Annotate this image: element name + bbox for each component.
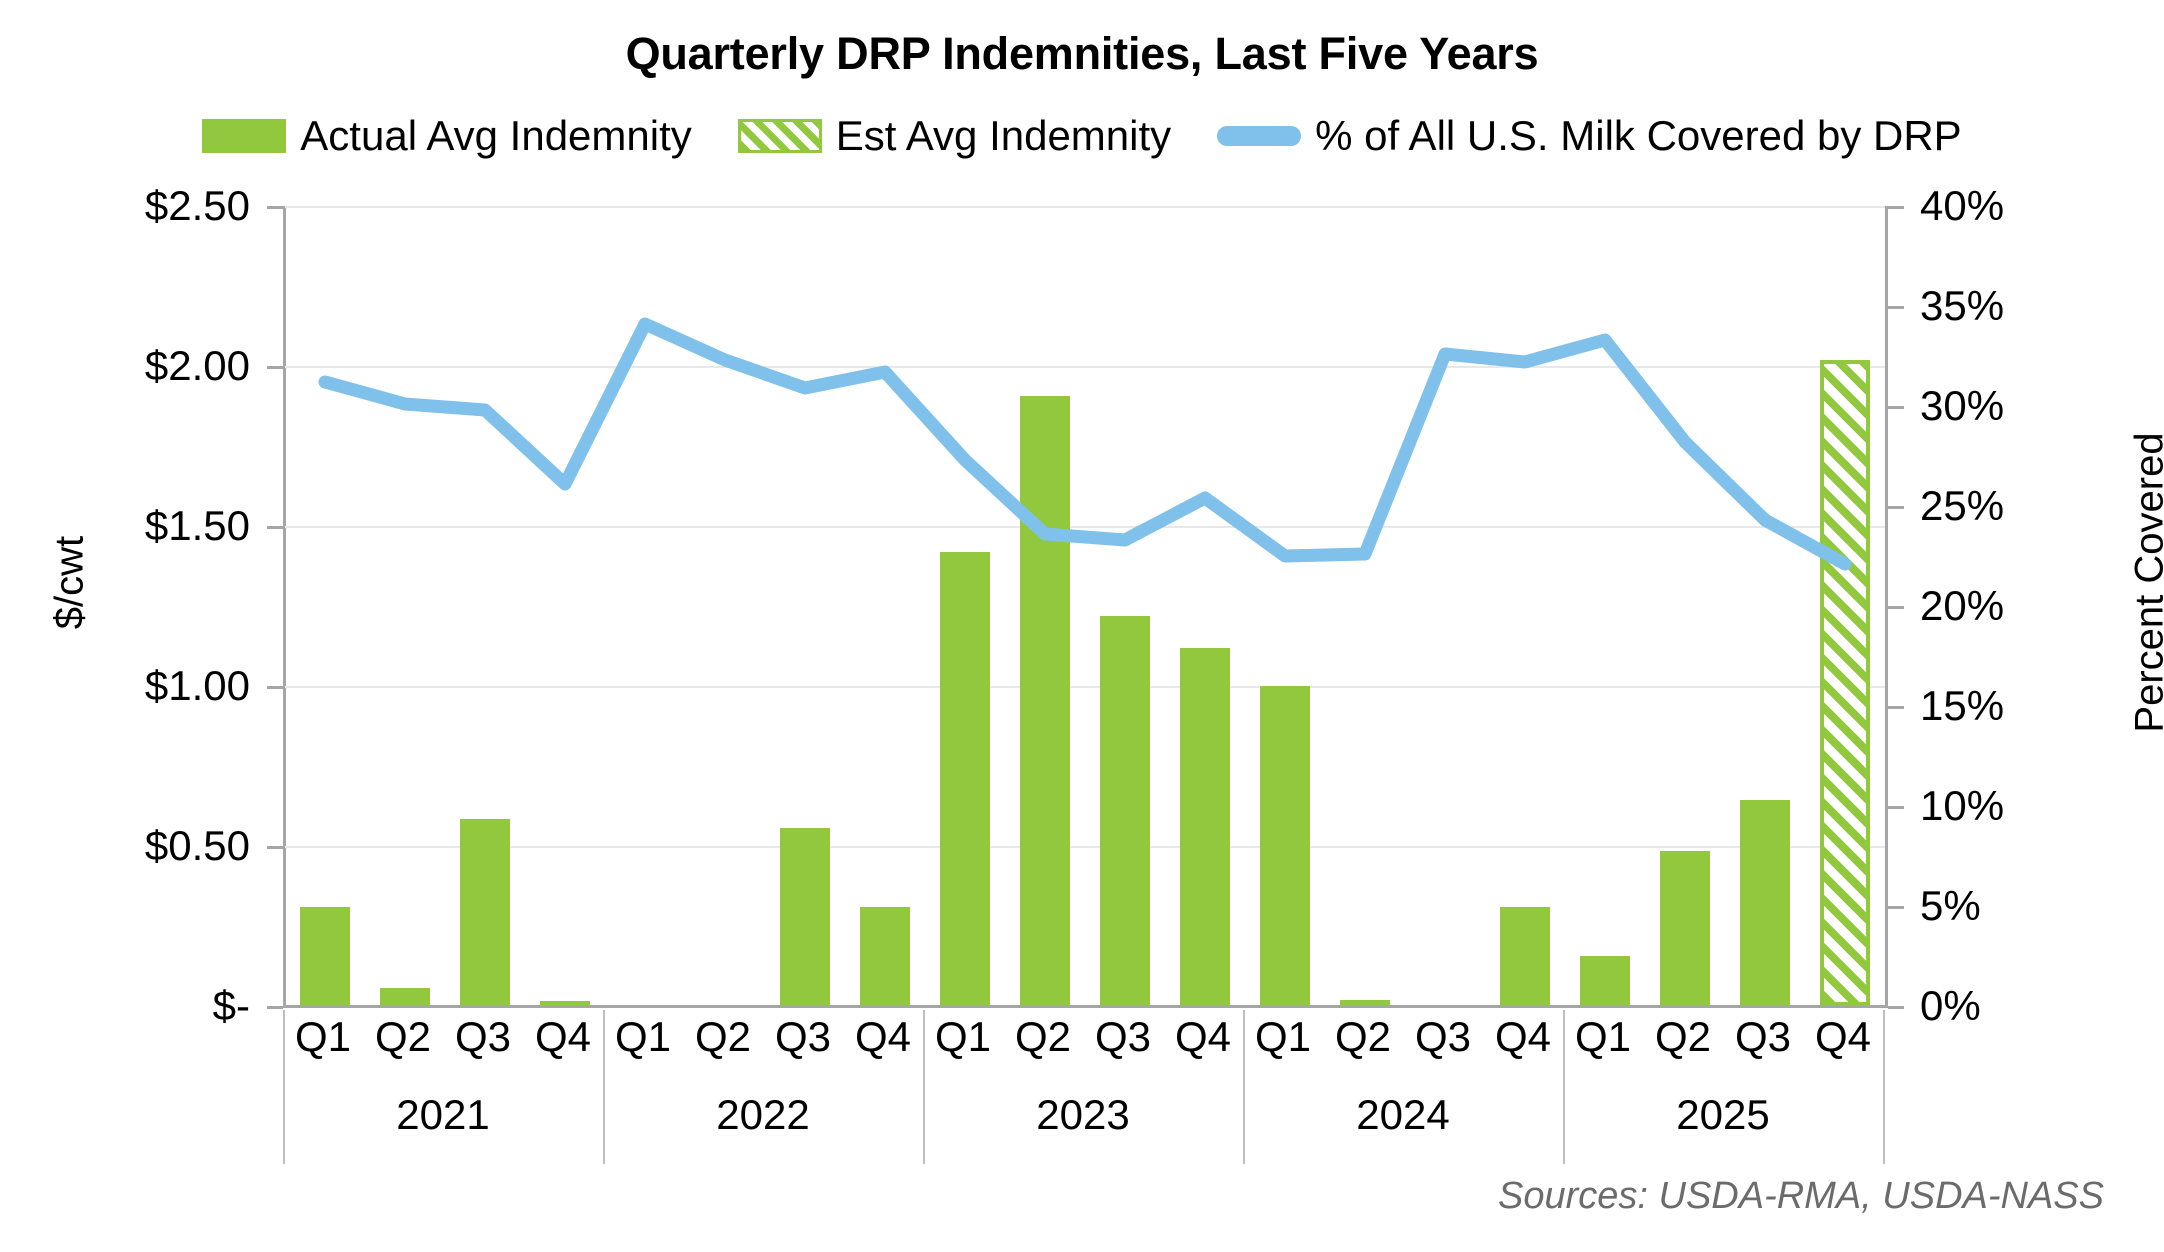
y-tick-label-right: 15% [1920,685,2070,727]
y-tick-mark-left [267,846,283,849]
y-tick-mark-right [1888,806,1904,809]
y-tick-mark-right [1888,406,1904,409]
chart-title: Quarterly DRP Indemnities, Last Five Yea… [0,28,2164,80]
y-tick-label-left: $- [55,985,250,1027]
y-tick-mark-right [1888,706,1904,709]
y-tick-label-right: 20% [1920,585,2070,627]
x-tick-label-year: 2021 [283,1094,603,1136]
legend-item-coverage[interactable]: % of All U.S. Milk Covered by DRP [1217,115,1962,157]
x-group-separator [603,1010,605,1164]
y-tick-mark-right [1888,506,1904,509]
x-tick-label-quarter: Q2 [1003,1016,1083,1058]
x-group-separator [1563,1010,1565,1164]
y-tick-mark-left [267,686,283,689]
y-tick-label-right: 25% [1920,485,2070,527]
x-tick-label-quarter: Q3 [763,1016,843,1058]
x-tick-label-year: 2024 [1243,1094,1563,1136]
y-tick-label-right: 30% [1920,385,2070,427]
x-tick-label-quarter: Q3 [1403,1016,1483,1058]
x-tick-label-quarter: Q1 [283,1016,363,1058]
x-axis-band: Q1Q2Q3Q4Q1Q2Q3Q4Q1Q2Q3Q4Q1Q2Q3Q4Q1Q2Q3Q4… [283,1008,1888,1168]
x-axis-quarter-labels: Q1Q2Q3Q4Q1Q2Q3Q4Q1Q2Q3Q4Q1Q2Q3Q4Q1Q2Q3Q4 [283,1008,1883,1084]
source-note: Sources: USDA-RMA, USDA-NASS [1498,1175,2104,1218]
y-tick-label-right: 0% [1920,985,2070,1027]
x-tick-label-quarter: Q4 [1163,1016,1243,1058]
plot-area [285,206,1885,1006]
x-tick-label-quarter: Q3 [1723,1016,1803,1058]
x-group-separator [923,1010,925,1164]
x-group-separator [1883,1010,1885,1164]
y-tick-mark-left [267,366,283,369]
legend-label-actual: Actual Avg Indemnity [300,115,691,157]
y-axis-title-right: Percent Covered [2128,418,2164,748]
legend-label-estimate: Est Avg Indemnity [836,115,1171,157]
x-tick-label-quarter: Q4 [843,1016,923,1058]
x-tick-label-quarter: Q4 [1483,1016,1563,1058]
x-group-separator [283,1010,285,1164]
y-tick-label-right: 35% [1920,285,2070,327]
chart-container: Quarterly DRP Indemnities, Last Five Yea… [0,0,2164,1252]
y-tick-mark-right [1888,606,1904,609]
chart-legend: Actual Avg Indemnity Est Avg Indemnity %… [0,115,2164,157]
x-tick-label-year: 2023 [923,1094,1243,1136]
legend-item-estimate[interactable]: Est Avg Indemnity [738,115,1171,157]
hatched-bar-swatch-icon [738,119,822,153]
x-tick-label-year: 2025 [1563,1094,1883,1136]
y-tick-label-left: $2.50 [55,185,250,227]
x-tick-label-quarter: Q3 [443,1016,523,1058]
y-tick-mark-right [1888,906,1904,909]
legend-item-actual[interactable]: Actual Avg Indemnity [202,115,691,157]
x-tick-label-year: 2022 [603,1094,923,1136]
y-tick-mark-left [267,206,283,209]
coverage-line-series [285,206,1885,1006]
x-axis-year-labels: 20212022202320242025 [283,1094,1883,1164]
x-tick-label-quarter: Q2 [363,1016,443,1058]
y-tick-label-left: $1.50 [55,505,250,547]
legend-label-coverage: % of All U.S. Milk Covered by DRP [1315,115,1962,157]
plot-right-border [1885,206,1888,1008]
x-tick-label-quarter: Q1 [1563,1016,1643,1058]
y-tick-label-right: 5% [1920,885,2070,927]
y-tick-label-left: $2.00 [55,345,250,387]
x-tick-label-quarter: Q2 [1323,1016,1403,1058]
x-group-separator [1243,1010,1245,1164]
y-tick-label-right: 40% [1920,185,2070,227]
x-tick-label-quarter: Q3 [1083,1016,1163,1058]
y-tick-label-left: $0.50 [55,825,250,867]
solid-bar-swatch-icon [202,119,286,153]
x-tick-label-quarter: Q1 [603,1016,683,1058]
x-tick-label-quarter: Q4 [1803,1016,1883,1058]
line-swatch-icon [1217,126,1301,146]
x-tick-label-quarter: Q2 [683,1016,763,1058]
y-tick-label-right: 10% [1920,785,2070,827]
x-tick-label-quarter: Q1 [1243,1016,1323,1058]
y-tick-mark-right [1888,1006,1904,1009]
y-tick-mark-left [267,526,283,529]
y-tick-mark-right [1888,206,1904,209]
x-tick-label-quarter: Q1 [923,1016,1003,1058]
y-tick-mark-left [267,1006,283,1009]
y-tick-label-left: $1.00 [55,665,250,707]
y-tick-mark-right [1888,306,1904,309]
x-tick-label-quarter: Q2 [1643,1016,1723,1058]
x-tick-label-quarter: Q4 [523,1016,603,1058]
